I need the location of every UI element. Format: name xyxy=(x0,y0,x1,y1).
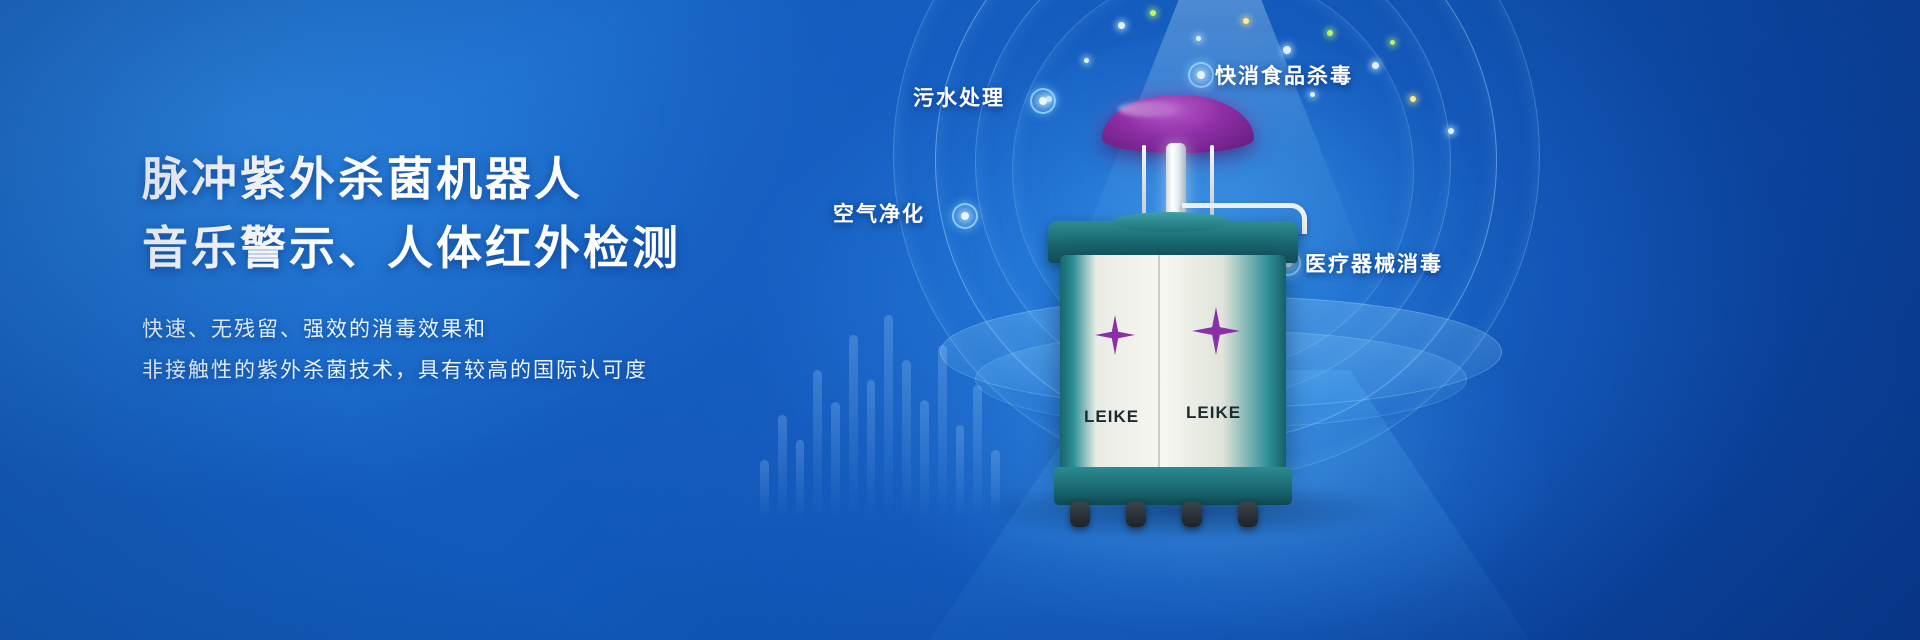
feature-label-fast-moving-food: 快消食品杀毒 xyxy=(1215,60,1353,90)
sparkle-dot xyxy=(1410,96,1416,102)
feature-label-medical-device: 医疗器械消毒 xyxy=(1305,248,1443,278)
connector-node-air xyxy=(952,203,978,229)
caster-wheel xyxy=(1238,501,1258,527)
connector-node-food xyxy=(1188,62,1214,88)
banner-headline-line2: 音乐警示、人体红外检测 xyxy=(142,219,782,280)
banner-copy-block: 脉冲紫外杀菌机器人 音乐警示、人体红外检测 快速、无残留、强效的消毒效果和 非接… xyxy=(142,150,782,391)
sparkle-dot xyxy=(1390,40,1395,45)
caster-wheel xyxy=(1182,501,1202,527)
caster-wheel xyxy=(1126,501,1146,527)
product-uv-robot: LEIKE LEIKE xyxy=(1030,95,1300,495)
sparkle-dot xyxy=(1118,22,1125,29)
sparkle-star-icon xyxy=(1095,315,1135,355)
sparkle-dot xyxy=(1310,92,1315,97)
sparkle-dot xyxy=(1084,58,1089,63)
product-base xyxy=(1054,467,1292,505)
sparkle-star-icon xyxy=(1192,307,1240,355)
sparkle-dot xyxy=(1196,36,1201,41)
sparkle-dot xyxy=(1150,10,1156,16)
body-panel-divider xyxy=(1158,255,1160,475)
product-body: LEIKE LEIKE xyxy=(1060,255,1286,475)
sparkle-dot xyxy=(1327,30,1333,36)
feature-label-air-purification: 空气净化 xyxy=(833,198,925,228)
hero-banner: LEIKE LEIKE 污水处理 快消食品杀毒 空气净化 医疗器械消毒 脉冲紫外… xyxy=(0,0,1920,640)
caster-wheel xyxy=(1070,501,1090,527)
sparkle-dot xyxy=(1283,46,1291,54)
banner-headline-line1: 脉冲紫外杀菌机器人 xyxy=(142,150,782,211)
brand-label-left: LEIKE xyxy=(1084,407,1139,427)
banner-description-line1: 快速、无残留、强效的消毒效果和 xyxy=(142,309,782,350)
sparkle-dot xyxy=(1448,128,1454,134)
equalizer-bars-decoration xyxy=(760,290,1000,520)
brand-label-right: LEIKE xyxy=(1186,403,1241,423)
sparkle-dot xyxy=(1243,18,1249,24)
sparkle-dot xyxy=(1372,62,1379,69)
feature-label-wastewater: 污水处理 xyxy=(913,82,1005,112)
banner-description-line2: 非接触性的紫外杀菌技术，具有较高的国际认可度 xyxy=(142,350,782,391)
banner-description: 快速、无残留、强效的消毒效果和 非接触性的紫外杀菌技术，具有较高的国际认可度 xyxy=(142,309,782,391)
